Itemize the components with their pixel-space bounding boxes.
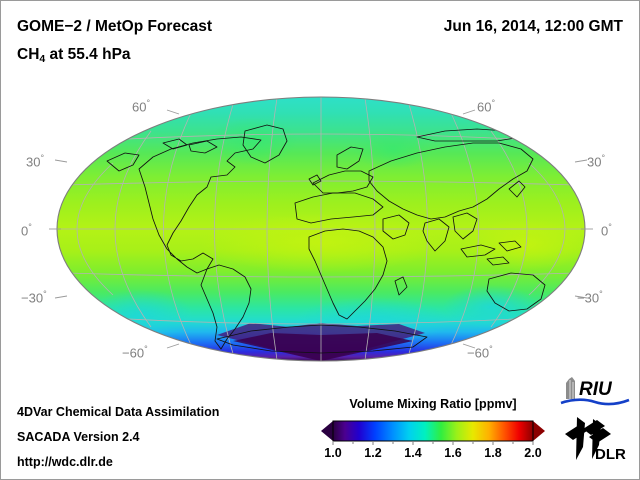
colorbar-extend-min-arrow	[321, 421, 333, 441]
species-label: CH	[17, 46, 39, 63]
colorbar-title: Volume Mixing Ratio [ppmv]	[319, 397, 547, 411]
timestamp-label: Jun 16, 2014, 12:00 GMT	[444, 18, 623, 36]
colorbar-tick-label: 1.6	[444, 446, 461, 460]
colorbar-gradient	[319, 419, 547, 445]
lat-label-0-left: 0°	[21, 222, 32, 238]
world-map-mollweide	[21, 83, 621, 383]
colorbar-tick-label: 1.4	[404, 446, 421, 460]
figure-subtitle: CH4 at 55.4 hPa	[17, 46, 131, 64]
figure-title: GOME−2 / MetOp Forecast	[17, 18, 212, 36]
lat-label-60n-right: 60°	[477, 98, 495, 114]
dlr-logo-text: DLR	[595, 446, 626, 463]
degree-symbol-icon: °	[608, 222, 612, 232]
footer-line-method: 4DVar Chemical Data Assimilation	[17, 405, 219, 419]
colorbar-extend-max-arrow	[533, 421, 545, 441]
lat-label-60s-right: −60°	[467, 344, 493, 360]
species-subscript: 4	[39, 53, 45, 65]
dlr-logo: DLR	[563, 415, 635, 465]
lat-label-30n-left: 30°	[26, 153, 44, 169]
degree-symbol-icon: °	[601, 153, 605, 163]
figure-canvas: GOME−2 / MetOp Forecast CH4 at 55.4 hPa …	[0, 0, 640, 480]
degree-symbol-icon: °	[43, 289, 47, 299]
riu-logo: RIU	[557, 375, 633, 409]
pressure-level-label: at 55.4 hPa	[45, 46, 130, 63]
colorbar-tick-label: 1.0	[324, 446, 341, 460]
degree-symbol-icon: °	[28, 222, 32, 232]
map-panel: 60° 30° 0° −30° −60° 60° 30° 0° −30° −60…	[21, 83, 621, 383]
lat-label-0-right: 0°	[601, 222, 612, 238]
lat-label-30s-left: −30°	[21, 289, 47, 305]
degree-symbol-icon: °	[491, 98, 495, 108]
riu-wave-icon	[561, 400, 629, 404]
lat-label-30n-right: 30°	[587, 153, 605, 169]
colorbar-tick-label: 1.8	[484, 446, 501, 460]
degree-symbol-icon: °	[40, 153, 44, 163]
degree-symbol-icon: °	[599, 289, 603, 299]
degree-symbol-icon: °	[146, 98, 150, 108]
colorbar: Volume Mixing Ratio [ppmv] 1.01.21.41.61…	[319, 397, 547, 477]
lat-label-30s-right: −30°	[577, 289, 603, 305]
colorbar-tick-label: 1.2	[364, 446, 381, 460]
lat-label-60s-left: −60°	[122, 344, 148, 360]
lat-label-60n-left: 60°	[132, 98, 150, 114]
riu-tower-icon	[566, 377, 575, 399]
colorbar-tick-marks	[333, 441, 533, 445]
map-data-field	[51, 97, 591, 383]
degree-symbol-icon: °	[144, 344, 148, 354]
footer-line-url[interactable]: http://wdc.dlr.de	[17, 455, 113, 469]
riu-logo-text: RIU	[579, 379, 613, 400]
degree-symbol-icon: °	[489, 344, 493, 354]
footer-line-version: SACADA Version 2.4	[17, 430, 140, 444]
colorbar-tick-labels: 1.01.21.41.61.82.0	[319, 446, 547, 466]
colorbar-tick-label: 2.0	[524, 446, 541, 460]
